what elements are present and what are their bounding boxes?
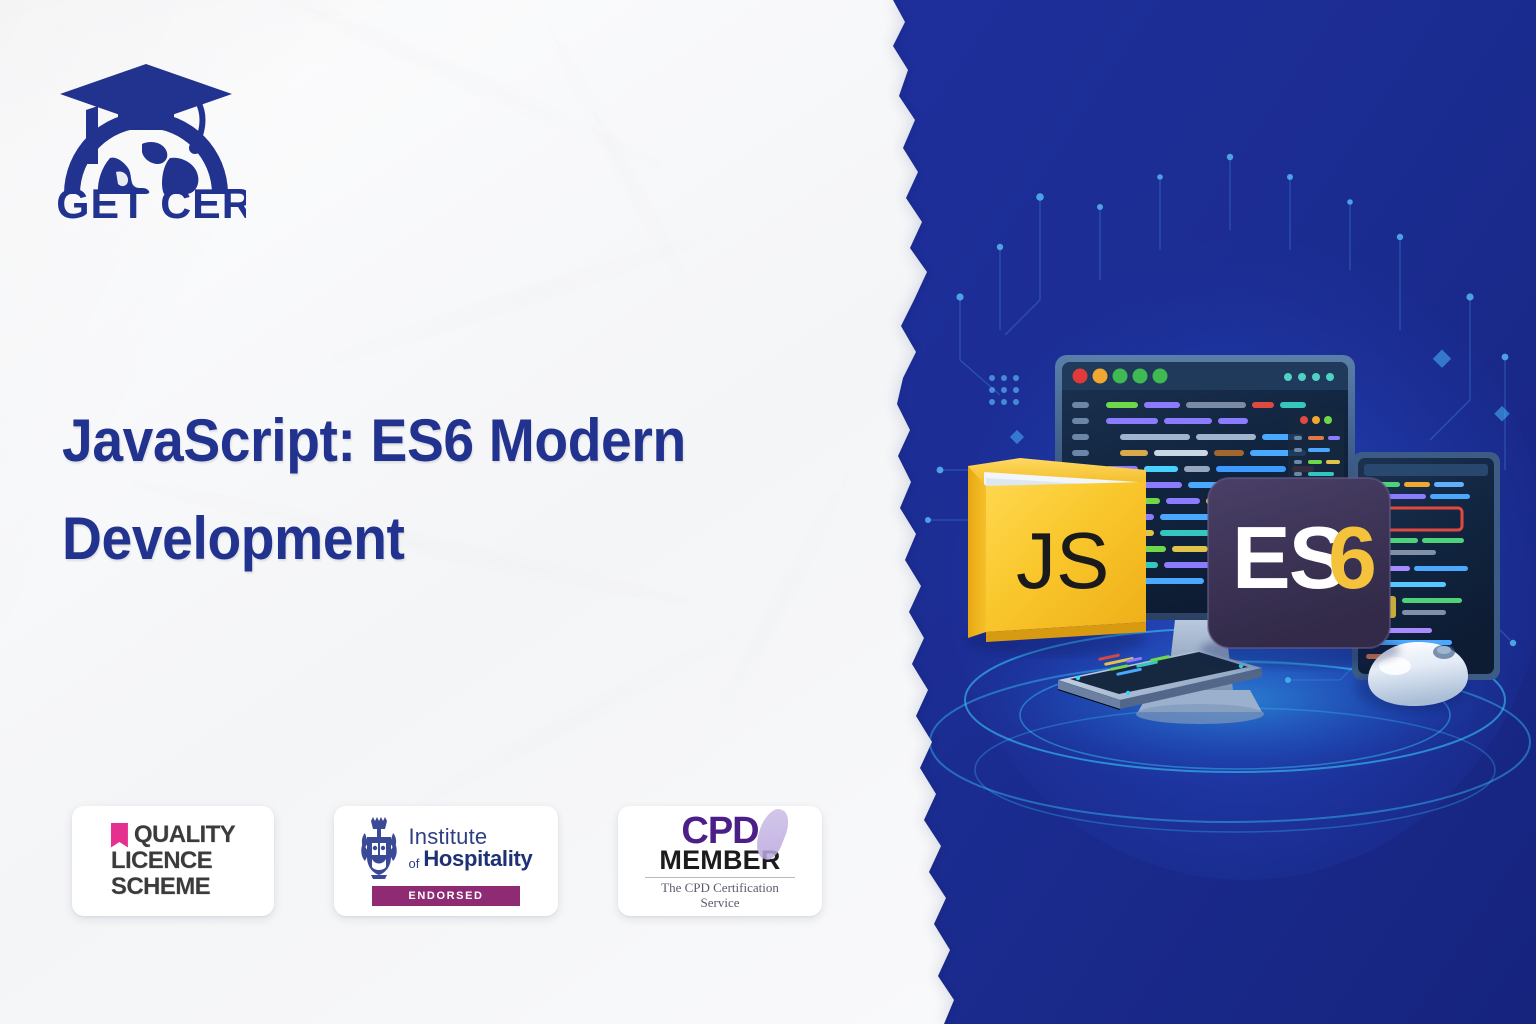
badge-quality-licence-scheme[interactable]: QUALITY LICENCE SCHEME bbox=[72, 806, 274, 916]
illustration-canvas: ES 6 JS bbox=[860, 0, 1536, 1024]
accreditation-badges: QUALITY LICENCE SCHEME bbox=[72, 806, 822, 916]
badge-qls-line2: LICENCE bbox=[111, 848, 212, 874]
badge-cpd-member[interactable]: CPD MEMBER The CPD Certification Service bbox=[618, 806, 822, 916]
svg-text:JS: JS bbox=[1016, 516, 1109, 605]
es6-card: ES 6 bbox=[1200, 478, 1400, 668]
page-title-line-2: Development bbox=[62, 490, 743, 588]
badge-cpd-line3: The CPD Certification bbox=[661, 880, 779, 895]
heraldic-crest-icon bbox=[359, 817, 399, 879]
badge-ioh-of: of bbox=[408, 857, 419, 870]
badge-ioh-line1: Institute bbox=[408, 826, 532, 848]
get-certify-logo[interactable]: GET CERTIFY bbox=[46, 46, 246, 224]
page-title: JavaScript: ES6 Modern Development bbox=[62, 392, 743, 588]
badge-ioh-hospitality: Hospitality bbox=[423, 848, 532, 870]
badge-cpd-line4: Service bbox=[701, 895, 740, 910]
svg-text:6: 6 bbox=[1328, 508, 1375, 607]
badge-institute-of-hospitality[interactable]: Institute of Hospitality ENDORSED bbox=[334, 806, 558, 916]
cpd-divider bbox=[645, 877, 795, 878]
svg-text:GET CERTIFY: GET CERTIFY bbox=[56, 180, 246, 224]
badge-qls-line3: SCHEME bbox=[111, 874, 210, 900]
js-folder: JS bbox=[965, 458, 1146, 656]
page-title-line-1: JavaScript: ES6 Modern bbox=[62, 392, 743, 490]
badge-qls-line1: QUALITY bbox=[134, 822, 235, 848]
logo-wordmark: GET CERTIFY bbox=[56, 180, 246, 224]
badge-ioh-endorsed-banner: ENDORSED bbox=[372, 886, 520, 906]
bookmark-ribbon-icon bbox=[111, 823, 128, 848]
course-banner: ES 6 JS bbox=[0, 0, 1536, 1024]
badge-cpd-line1: CPD bbox=[681, 813, 758, 849]
